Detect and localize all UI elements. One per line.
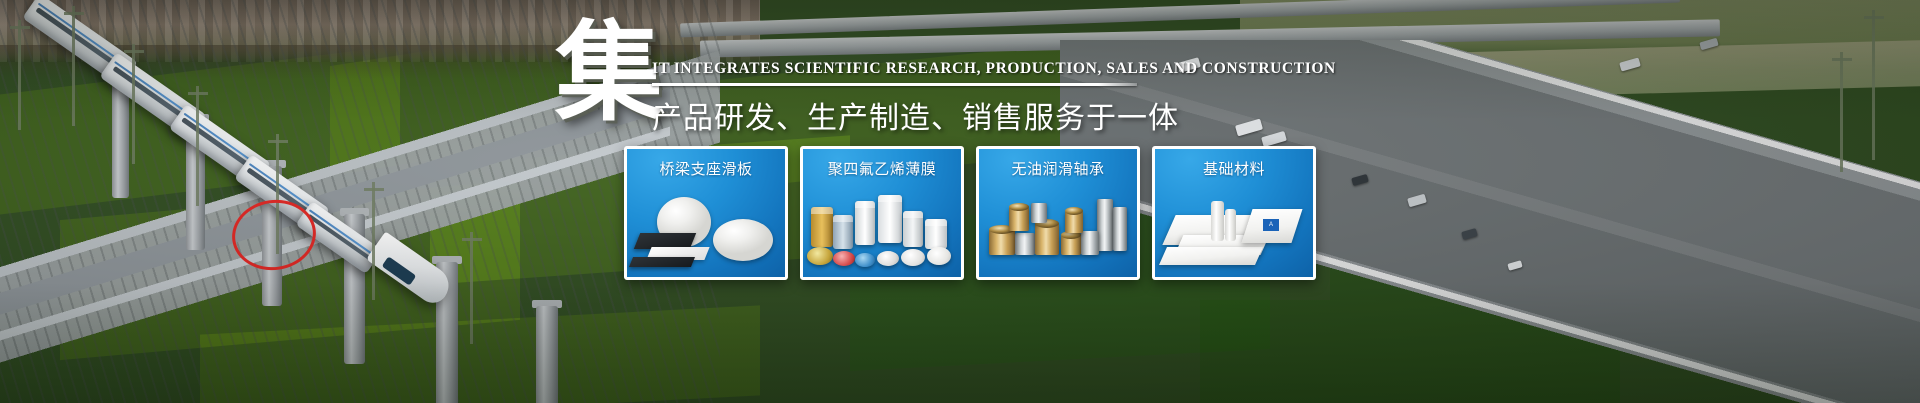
hero-banner: 集 IT INTEGRATES SCIENTIFIC RESEARCH, PRO… [0,0,1920,403]
product-card-title: 无油润滑轴承 [979,158,1137,179]
headline-divider-rule [652,83,1137,86]
product-card-title: 聚四氟乙烯薄膜 [803,158,961,179]
product-card-basic-material[interactable]: 基础材料 A [1152,146,1316,280]
utility-pole-arm [188,92,208,95]
utility-pole-arm [364,188,384,191]
utility-pole [1840,52,1843,172]
english-tagline: IT INTEGRATES SCIENTIFIC RESEARCH, PRODU… [652,60,1152,78]
utility-pole-arm [10,26,30,29]
utility-pole [1872,10,1875,160]
utility-pole-arm [268,140,288,143]
utility-pole [470,232,473,344]
utility-pole-arm [1864,16,1884,19]
headline-text-group: IT INTEGRATES SCIENTIFIC RESEARCH, PRODU… [652,60,1152,137]
utility-pole [18,20,21,130]
product-card-list: 桥梁支座滑板 聚四氟乙烯薄膜 [624,146,1316,280]
utility-pole-arm [462,238,482,241]
product-card-title: 基础材料 [1155,158,1313,179]
product-card-bridge-bearing-slide-plate[interactable]: 桥梁支座滑板 [624,146,788,280]
utility-pole-arm [64,12,84,15]
product-card-title: 桥梁支座滑板 [627,158,785,179]
product-card-ptfe-film[interactable]: 聚四氟乙烯薄膜 [800,146,964,280]
headline-big-character: 集 [555,20,663,128]
utility-pole [196,86,199,206]
utility-pole-arm [1832,58,1852,61]
product-image-ptfe-film [803,185,961,277]
product-image-slide-plate [627,185,785,277]
chinese-tagline: 产品研发、生产制造、销售服务于一体 [652,93,1152,137]
product-card-oil-free-bearing[interactable]: 无油润滑轴承 [976,146,1140,280]
utility-pole [72,6,75,126]
utility-pole [372,182,375,300]
product-image-basic-material: A [1155,185,1313,277]
high-speed-train [150,95,620,345]
utility-pole [132,44,135,164]
headline-block: 集 IT INTEGRATES SCIENTIFIC RESEARCH, PRO… [555,20,1155,145]
train-nose [366,231,456,308]
utility-pole-arm [124,50,144,53]
product-image-bearings [979,185,1137,277]
